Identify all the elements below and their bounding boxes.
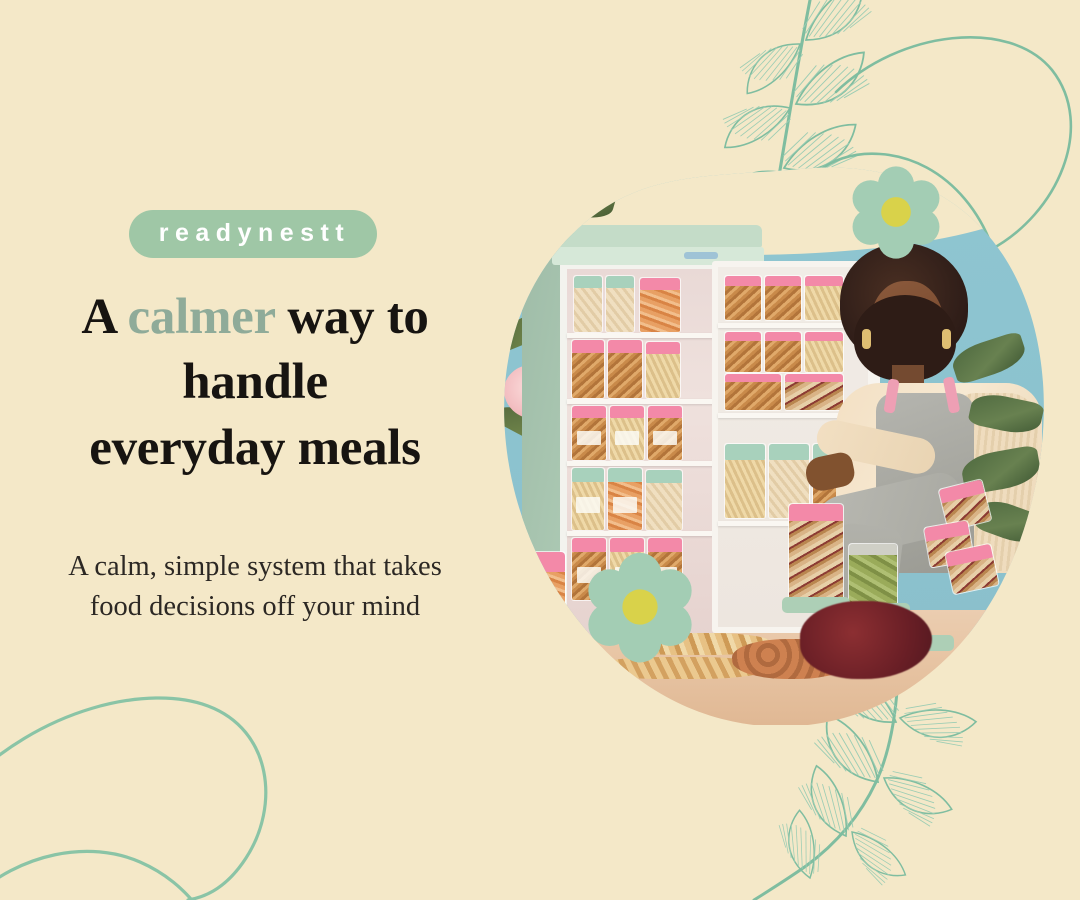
- scene-container: [571, 537, 607, 601]
- scene-fridge-interior: [560, 265, 717, 637]
- headline-line-2: everyday meals: [89, 420, 420, 476]
- scene-container: [573, 275, 603, 333]
- scene-container: [607, 467, 643, 531]
- scene-shelf: [567, 461, 717, 466]
- scene-person-earring: [942, 329, 951, 349]
- scene-person-earring: [862, 329, 871, 349]
- scene-fridge-top: [518, 225, 762, 247]
- subtitle-line-2: food decisions off your mind: [90, 591, 420, 622]
- scene-container: [647, 537, 683, 601]
- scene-container: [764, 331, 802, 373]
- scene-shelf: [567, 531, 717, 536]
- scene-fridge-handle: [684, 252, 718, 259]
- page-title: A calmer way to handle everyday meals: [14, 285, 496, 481]
- hero-photo-blob-mask: [500, 165, 1045, 725]
- scene-container: [639, 277, 681, 333]
- scene-container: [609, 537, 645, 601]
- hero-photo: [500, 165, 1045, 725]
- scene-red-lettuce: [800, 601, 932, 679]
- scene-container: [645, 469, 683, 531]
- leaf-outline-bottom-left-icon: [0, 698, 266, 900]
- scene-container: [724, 275, 762, 321]
- scene-container: [724, 331, 762, 373]
- headline-accent-word: calmer: [128, 289, 275, 345]
- scene-granola-jar: [788, 503, 844, 603]
- scene-container: [605, 275, 635, 333]
- scene-container: [607, 339, 643, 399]
- scene-container: [645, 341, 681, 399]
- subtitle-line-1: A calm, simple system that takes: [68, 551, 442, 582]
- scene-container: [609, 405, 645, 461]
- scene-shelf: [567, 399, 717, 404]
- brand-badge: readynestt: [129, 210, 377, 258]
- scene-container: [764, 275, 802, 321]
- text-column: readynestt A calmer way to handle everyd…: [0, 210, 510, 628]
- headline-part-1: A: [81, 289, 127, 345]
- page-subtitle: A calm, simple system that takes food de…: [22, 547, 488, 628]
- scene-container: [571, 339, 605, 399]
- poster-canvas: readynestt A calmer way to handle everyd…: [0, 0, 1080, 900]
- scene-container: [571, 405, 607, 461]
- scene-container: [724, 373, 782, 411]
- photo-scene: [500, 165, 1045, 725]
- scene-container: [647, 405, 683, 461]
- scene-shelf: [567, 333, 717, 338]
- scene-container: [571, 467, 605, 531]
- scene-container: [724, 443, 766, 519]
